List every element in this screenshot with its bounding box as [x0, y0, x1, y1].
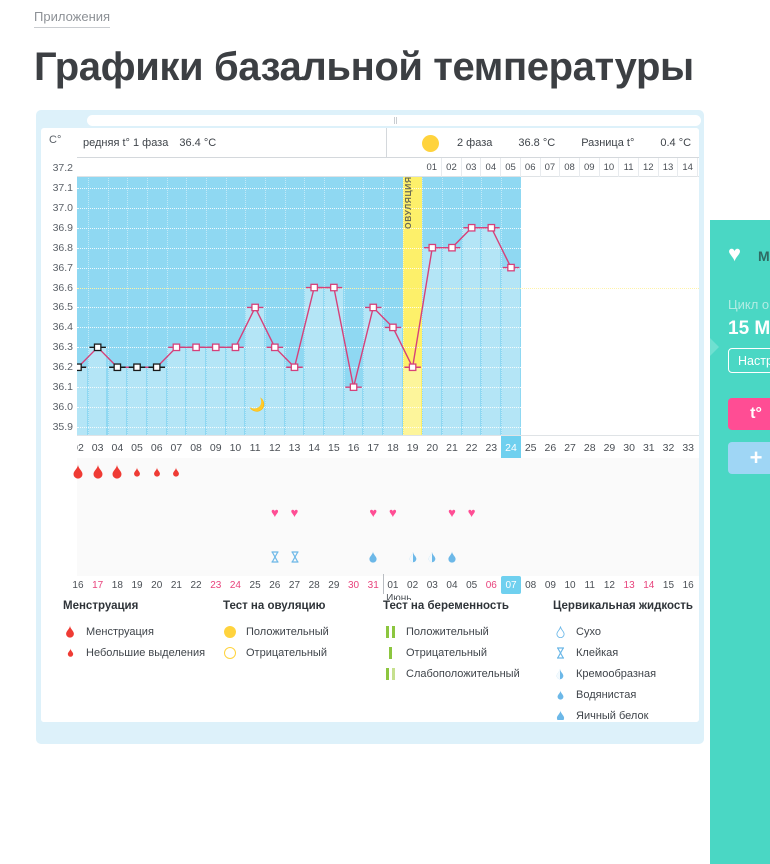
menstruation-drop-icon[interactable]: [112, 464, 123, 484]
data-point: [468, 225, 474, 231]
data-point: [350, 384, 356, 390]
y-axis-tick: 35.9: [53, 421, 73, 433]
chart-inner: C° редняя t° 1 фаза 36.4 °C 2 фаза 36.8 …: [41, 128, 699, 722]
app-heart-icon: ♥: [728, 243, 741, 265]
circle-filled-yellow-icon: [223, 626, 237, 638]
intercourse-heart-icon[interactable]: ♥: [468, 506, 476, 519]
phase2-day-number: 09: [580, 158, 600, 177]
phase2-day-number: 04: [481, 158, 501, 177]
phase-diff-label: Разница t°: [581, 137, 634, 149]
drop-blue-small-icon: [553, 690, 567, 700]
ovulation-test-positive-icon: [422, 135, 439, 152]
data-point: [429, 244, 435, 250]
y-axis-unit-label: C°: [49, 134, 61, 146]
symbol-rows[interactable]: ♥♥♥♥♥♥: [77, 458, 699, 576]
calendar-date-axis[interactable]: 1617181920212223242526272829303101020304…: [77, 576, 699, 596]
data-point: [114, 364, 120, 370]
calendar-date-cell[interactable]: 06: [481, 576, 501, 594]
phase2-day-number: 14: [678, 158, 698, 177]
add-temperature-button[interactable]: t°: [728, 398, 770, 430]
calendar-date-cell[interactable]: 28: [304, 576, 324, 594]
y-axis-tick: 36.6: [53, 282, 73, 294]
legend-column-title: Цервикальная жидкость: [553, 600, 693, 612]
calendar-date-cell[interactable]: 25: [245, 576, 265, 594]
drop-outline-icon: [553, 626, 567, 638]
calendar-date-cell[interactable]: 01: [383, 576, 403, 594]
legend-item-label: Сухо: [576, 626, 601, 638]
calendar-date-cell[interactable]: 13: [619, 576, 639, 594]
cervical-fluid-watery-icon[interactable]: [447, 550, 456, 568]
legend-item-label: Водянистая: [576, 689, 636, 701]
double-bar-faint-icon: [383, 668, 397, 680]
legend-column: Тест на беременностьПоложительныйОтрицат…: [383, 600, 520, 684]
legend-item: Небольшие выделения: [63, 642, 205, 663]
content-shell: C° редняя t° 1 фаза 36.4 °C 2 фаза 36.8 …: [0, 110, 770, 754]
single-bar-green-icon: [383, 647, 397, 659]
cervical-fluid-creamy-icon[interactable]: [428, 550, 436, 568]
phase2-day-number: 05: [501, 158, 521, 177]
legend-item: Кремообразная: [553, 663, 693, 684]
data-point: [134, 364, 140, 370]
double-bar-green-icon: [383, 626, 397, 638]
intercourse-heart-icon[interactable]: ♥: [448, 506, 456, 519]
calendar-date-cell[interactable]: 19: [127, 576, 147, 594]
scrollbar-grip-icon: [394, 117, 397, 124]
legend-item: Положительный: [223, 621, 329, 642]
legend-item-label: Положительный: [246, 626, 329, 638]
legend-item: Водянистая: [553, 684, 693, 705]
phase2-day-number: 13: [659, 158, 679, 177]
calendar-date-cell[interactable]: 20: [147, 576, 167, 594]
page-header: Приложения Графики базальной температуры: [0, 0, 770, 92]
menstruation-drop-icon[interactable]: [72, 464, 83, 484]
phase1-label: редняя t° 1 фаза: [83, 137, 168, 149]
phase2-day-number: 06: [521, 158, 541, 177]
y-axis-tick: 36.3: [53, 341, 73, 353]
calendar-date-cell[interactable]: 05: [462, 576, 482, 594]
data-point: [252, 304, 258, 310]
phase2-value: 36.8 °C: [518, 137, 555, 149]
phase1-value: 36.4 °C: [179, 137, 216, 149]
cervical-fluid-creamy-icon[interactable]: [409, 550, 417, 568]
menstruation-drop-icon[interactable]: [173, 464, 180, 482]
y-axis-tick: 36.8: [53, 242, 73, 254]
calendar-date-cell[interactable]: 08: [521, 576, 541, 594]
legend-column: Цервикальная жидкостьСухоКлейкаяКремообр…: [553, 600, 693, 722]
phase2-day-number: 02: [442, 158, 462, 177]
y-axis: 37.237.137.036.936.836.736.636.536.436.3…: [41, 158, 77, 458]
y-axis-tick: 36.0: [53, 401, 73, 413]
hourglass-icon: [553, 647, 567, 659]
chart-card: C° редняя t° 1 фаза 36.4 °C 2 фаза 36.8 …: [36, 110, 704, 744]
legend-bottom-row: ♥Половой актПрием лекарств🌙Лунный календ…: [41, 720, 699, 722]
phase2-day-number: 10: [600, 158, 620, 177]
legend-item-label: Небольшие выделения: [86, 647, 205, 659]
data-point: [213, 344, 219, 350]
calendar-date-cell[interactable]: 31: [363, 576, 383, 594]
calendar-date-cell[interactable]: 21: [167, 576, 187, 594]
phase2-summary: 2 фаза 36.8 °C Разница t° 0.4 °C: [447, 128, 699, 158]
calendar-date-cell[interactable]: 24: [226, 576, 246, 594]
calendar-date-cell[interactable]: 22: [186, 576, 206, 594]
side-panel: ♥ Мо Цикл о 15 МА Настр t° +: [710, 220, 770, 864]
cycle-start-label: Цикл о: [728, 297, 769, 312]
scrollbar-thumb[interactable]: [87, 115, 701, 126]
y-axis-tick: 36.5: [53, 301, 73, 313]
cervical-fluid-watery-icon[interactable]: [369, 550, 378, 568]
y-axis-tick: 36.1: [53, 381, 73, 393]
legend-item-label: Менструация: [86, 626, 154, 638]
crescent-drop-icon: [553, 668, 567, 680]
calendar-date-cell[interactable]: 03: [422, 576, 442, 594]
calendar-date-cell[interactable]: 27: [285, 576, 305, 594]
horizontal-scrollbar[interactable]: [41, 115, 699, 126]
legend: МенструацияМенструацияНебольшие выделени…: [41, 600, 699, 720]
data-point: [232, 344, 238, 350]
legend-item-label: Слабоположительный: [406, 668, 520, 680]
data-point: [154, 364, 160, 370]
data-point: [272, 344, 278, 350]
plot-area: 37.237.137.036.936.836.736.636.536.436.3…: [41, 158, 699, 458]
legend-column-title: Тест на овуляцию: [223, 600, 329, 612]
calendar-date-cell[interactable]: 09: [541, 576, 561, 594]
calendar-date-cell[interactable]: 18: [108, 576, 128, 594]
cervical-fluid-sticky-icon[interactable]: [270, 550, 279, 568]
top-right-white-gap: [752, 0, 770, 110]
legend-item: Сухо: [553, 621, 693, 642]
legend-column-title: Менструация: [63, 600, 205, 612]
phase2-label: 2 фаза: [457, 137, 492, 149]
legend-item: Клейкая: [553, 642, 693, 663]
y-axis-tick: 37.0: [53, 202, 73, 214]
data-point: [508, 264, 514, 270]
data-point: [488, 225, 494, 231]
data-point: [331, 284, 337, 290]
phase2-day-number: 01: [422, 158, 442, 177]
temperature-series: [77, 158, 699, 458]
breadcrumb[interactable]: Приложения: [34, 9, 110, 28]
data-point: [370, 304, 376, 310]
y-axis-tick: 36.7: [53, 262, 73, 274]
data-point: [390, 324, 396, 330]
calendar-date-cell[interactable]: 04: [442, 576, 462, 594]
calendar-date-cell[interactable]: 26: [265, 576, 285, 594]
page-title: Графики базальной температуры: [34, 42, 736, 92]
legend-item-label: Положительный: [406, 626, 489, 638]
legend-item: Отрицательный: [383, 642, 520, 663]
chart-plot[interactable]: 0203040506070809101112131415161718192021…: [77, 158, 699, 458]
legend-item: Отрицательный: [223, 642, 329, 663]
drop-small-icon: [63, 648, 77, 657]
data-point: [77, 364, 81, 370]
calendar-date-cell[interactable]: 14: [639, 576, 659, 594]
y-axis-tick: 37.2: [53, 162, 73, 174]
intercourse-heart-icon[interactable]: ♥: [389, 506, 397, 519]
calendar-date-cell[interactable]: 17: [88, 576, 108, 594]
app-name-label: Мо: [758, 248, 770, 264]
intercourse-heart-icon[interactable]: ♥: [369, 506, 377, 519]
legend-item-label: Кремообразная: [576, 668, 656, 680]
menstruation-drop-icon[interactable]: [134, 464, 141, 482]
legend-item: Слабоположительный: [383, 663, 520, 684]
intercourse-heart-icon[interactable]: ♥: [271, 506, 279, 519]
calendar-date-cell[interactable]: 23: [206, 576, 226, 594]
data-point: [409, 364, 415, 370]
y-axis-tick: 36.2: [53, 361, 73, 373]
phase-diff-value: 0.4 °C: [660, 137, 691, 149]
legend-column: МенструацияМенструацияНебольшие выделени…: [63, 600, 205, 663]
phase2-day-number: 07: [541, 158, 561, 177]
calendar-date-cell[interactable]: 07: [501, 576, 521, 594]
data-point: [193, 344, 199, 350]
cervical-fluid-sticky-icon[interactable]: [290, 550, 299, 568]
calendar-date-cell[interactable]: 30: [344, 576, 364, 594]
moon-calendar-icon: 🌙: [249, 397, 265, 413]
legend-item-label: Отрицательный: [246, 647, 327, 659]
calendar-date-cell[interactable]: 16: [68, 576, 88, 594]
phase-header-strip: редняя t° 1 фаза 36.4 °C 2 фаза 36.8 °C …: [77, 128, 699, 158]
calendar-date-cell[interactable]: 11: [580, 576, 600, 594]
calendar-date-cell[interactable]: 02: [403, 576, 423, 594]
calendar-date-cell[interactable]: 10: [560, 576, 580, 594]
intercourse-heart-icon[interactable]: ♥: [291, 506, 299, 519]
phase2-day-number: 08: [560, 158, 580, 177]
circle-outline-yellow-icon: [223, 647, 237, 659]
calendar-date-cell[interactable]: 12: [600, 576, 620, 594]
data-point: [449, 244, 455, 250]
calendar-date-cell[interactable]: 15: [659, 576, 679, 594]
data-point: [291, 364, 297, 370]
data-point: [173, 344, 179, 350]
phase1-summary: редняя t° 1 фаза 36.4 °C: [77, 128, 387, 158]
data-point: [311, 284, 317, 290]
legend-item-label: Клейкая: [576, 647, 618, 659]
menstruation-drop-icon[interactable]: [92, 464, 103, 484]
legend-item: Менструация: [63, 621, 205, 642]
data-point: [94, 344, 100, 350]
y-axis-tick: 37.1: [53, 182, 73, 194]
month-separator: [383, 574, 384, 594]
phase2-day-number: 12: [639, 158, 659, 177]
menstruation-drop-icon[interactable]: [153, 464, 160, 482]
add-entry-button[interactable]: +: [728, 442, 770, 474]
phase2-day-header: 0102030405060708091011121314: [77, 158, 699, 177]
legend-item-label: Отрицательный: [406, 647, 487, 659]
phase2-day-number: 11: [619, 158, 639, 177]
panel-collapse-arrow-icon[interactable]: [710, 338, 719, 356]
legend-item: Положительный: [383, 621, 520, 642]
calendar-date-cell[interactable]: 16: [678, 576, 698, 594]
cycle-start-date: 15 МА: [728, 318, 770, 340]
phase2-day-number: 03: [462, 158, 482, 177]
drop-large-icon: [63, 625, 77, 638]
calendar-date-cell[interactable]: 29: [324, 576, 344, 594]
y-axis-tick: 36.9: [53, 222, 73, 234]
settings-button[interactable]: Настр: [728, 348, 770, 373]
y-axis-tick: 36.4: [53, 321, 73, 333]
legend-column-title: Тест на беременность: [383, 600, 520, 612]
legend-column: Тест на овуляциюПоложительныйОтрицательн…: [223, 600, 329, 663]
